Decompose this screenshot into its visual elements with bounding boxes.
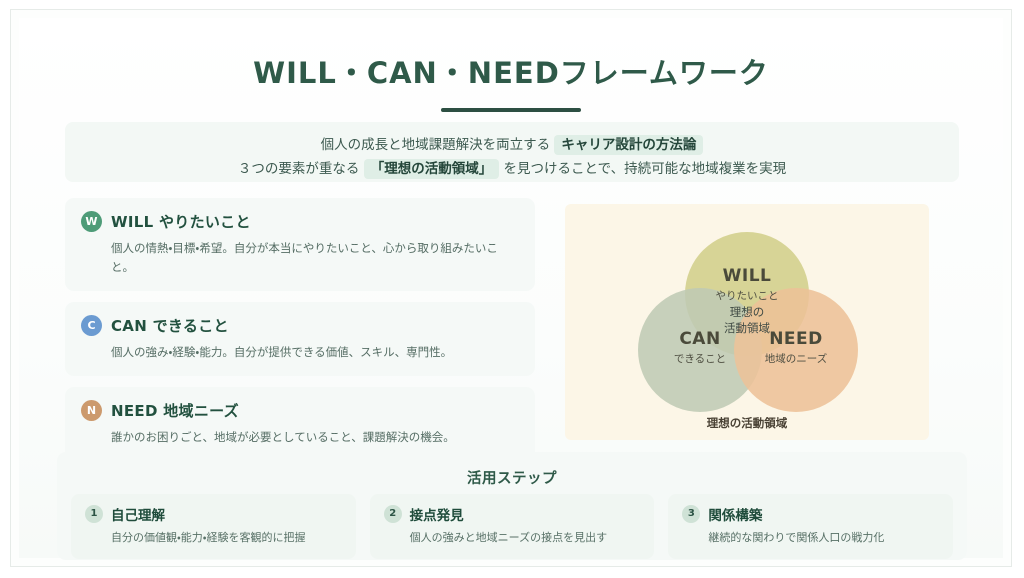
can-badge-icon: C [81, 315, 102, 336]
concept-card-need[interactable]: N NEED 地域ニーズ 誰かのお困りごと、地域が必要としていること、課題解決の… [65, 387, 535, 461]
concept-card-will-description: 個人の情熱・目標・希望。自分が本当にやりたいこと、心から取り組みたいこと。 [81, 239, 519, 277]
title-underline-divider [441, 108, 581, 112]
subtitle-line-2: ３つの要素が重なる 「理想の活動領域」 を見つけることで、持続可能な地域複業を実… [65, 157, 959, 177]
subtitle-line-1: 個人の成長と地域課題解決を両立する キャリア設計の方法論 [65, 133, 959, 153]
subtitle-band: 個人の成長と地域課題解決を両立する キャリア設計の方法論 ３つの要素が重なる 「… [65, 122, 959, 182]
step-card-1-header: 1 自己理解 [85, 504, 342, 524]
step-3-number-badge: 3 [682, 505, 700, 523]
concept-card-will-title: WILL やりたいこと [111, 211, 251, 232]
steps-section-title: 活用ステップ [57, 467, 967, 488]
subtitle-line-1-text: 個人の成長と地域課題解決を両立する [321, 137, 551, 153]
subtitle-line-1-highlight: キャリア設計の方法論 [554, 135, 703, 155]
slide-frame: WILL・CAN・NEEDフレームワーク 個人の成長と地域課題解決を両立する キ… [10, 9, 1012, 567]
venn-diagram-stage: WILL やりたいこと CAN できること NEED 地域のニーズ 理想の 活動… [565, 204, 929, 440]
venn-caption: 理想の活動領域 [565, 415, 929, 431]
step-card-2-header: 2 接点発見 [384, 504, 641, 524]
subtitle-line-2-prefix: ３つの要素が重なる [238, 161, 360, 177]
step-card-2-description: 個人の強みと地域ニーズの接点を見出す [384, 530, 641, 547]
step-card-3[interactable]: 3 関係構築 継続的な関わりで関係人口の戦力化 [668, 494, 953, 559]
step-card-1[interactable]: 1 自己理解 自分の価値観・能力・経験を客観的に把握 [71, 494, 356, 559]
will-badge-icon: W [81, 211, 102, 232]
venn-diagram-panel: WILL やりたいこと CAN できること NEED 地域のニーズ 理想の 活動… [565, 204, 929, 440]
venn-diagram-svg [565, 204, 929, 440]
concept-card-will-header: W WILL やりたいこと [81, 211, 519, 232]
step-card-3-header: 3 関係構築 [682, 504, 939, 524]
concept-card-can-header: C CAN できること [81, 315, 519, 336]
steps-section: 活用ステップ 1 自己理解 自分の価値観・能力・経験を客観的に把握 2 接点発見… [57, 452, 967, 560]
subtitle-line-2-highlight: 「理想の活動領域」 [364, 159, 500, 179]
need-badge-icon: N [81, 400, 102, 421]
concept-card-need-description: 誰かのお困りごと、地域が必要としていること、課題解決の機会。 [81, 428, 519, 447]
step-1-number-badge: 1 [85, 505, 103, 523]
concept-card-can-description: 個人の強み・経験・能力。自分が提供できる価値、スキル、専門性。 [81, 343, 519, 362]
concept-card-can-title: CAN できること [111, 315, 229, 336]
steps-list: 1 自己理解 自分の価値観・能力・経験を客観的に把握 2 接点発見 個人の強みと… [71, 494, 953, 559]
step-card-2-title: 接点発見 [410, 504, 464, 524]
step-card-1-description: 自分の価値観・能力・経験を客観的に把握 [85, 530, 342, 547]
step-card-2[interactable]: 2 接点発見 個人の強みと地域ニーズの接点を見出す [370, 494, 655, 559]
concept-card-can[interactable]: C CAN できること 個人の強み・経験・能力。自分が提供できる価値、スキル、専… [65, 302, 535, 376]
concept-card-need-header: N NEED 地域ニーズ [81, 400, 519, 421]
step-2-number-badge: 2 [384, 505, 402, 523]
concept-card-list: W WILL やりたいこと 個人の情熱・目標・希望。自分が本当にやりたいこと、心… [65, 198, 535, 472]
page-title: WILL・CAN・NEEDフレームワーク [19, 50, 1003, 92]
subtitle-line-2-suffix: を見つけることで、持続可能な地域複業を実現 [504, 161, 787, 177]
venn-circle-need [734, 288, 858, 412]
step-card-1-title: 自己理解 [111, 504, 165, 524]
concept-card-need-title: NEED 地域ニーズ [111, 400, 239, 421]
step-card-3-title: 関係構築 [708, 504, 762, 524]
slide-canvas: WILL・CAN・NEEDフレームワーク 個人の成長と地域課題解決を両立する キ… [19, 18, 1003, 558]
concept-card-will[interactable]: W WILL やりたいこと 個人の情熱・目標・希望。自分が本当にやりたいこと、心… [65, 198, 535, 291]
step-card-3-description: 継続的な関わりで関係人口の戦力化 [682, 530, 939, 547]
